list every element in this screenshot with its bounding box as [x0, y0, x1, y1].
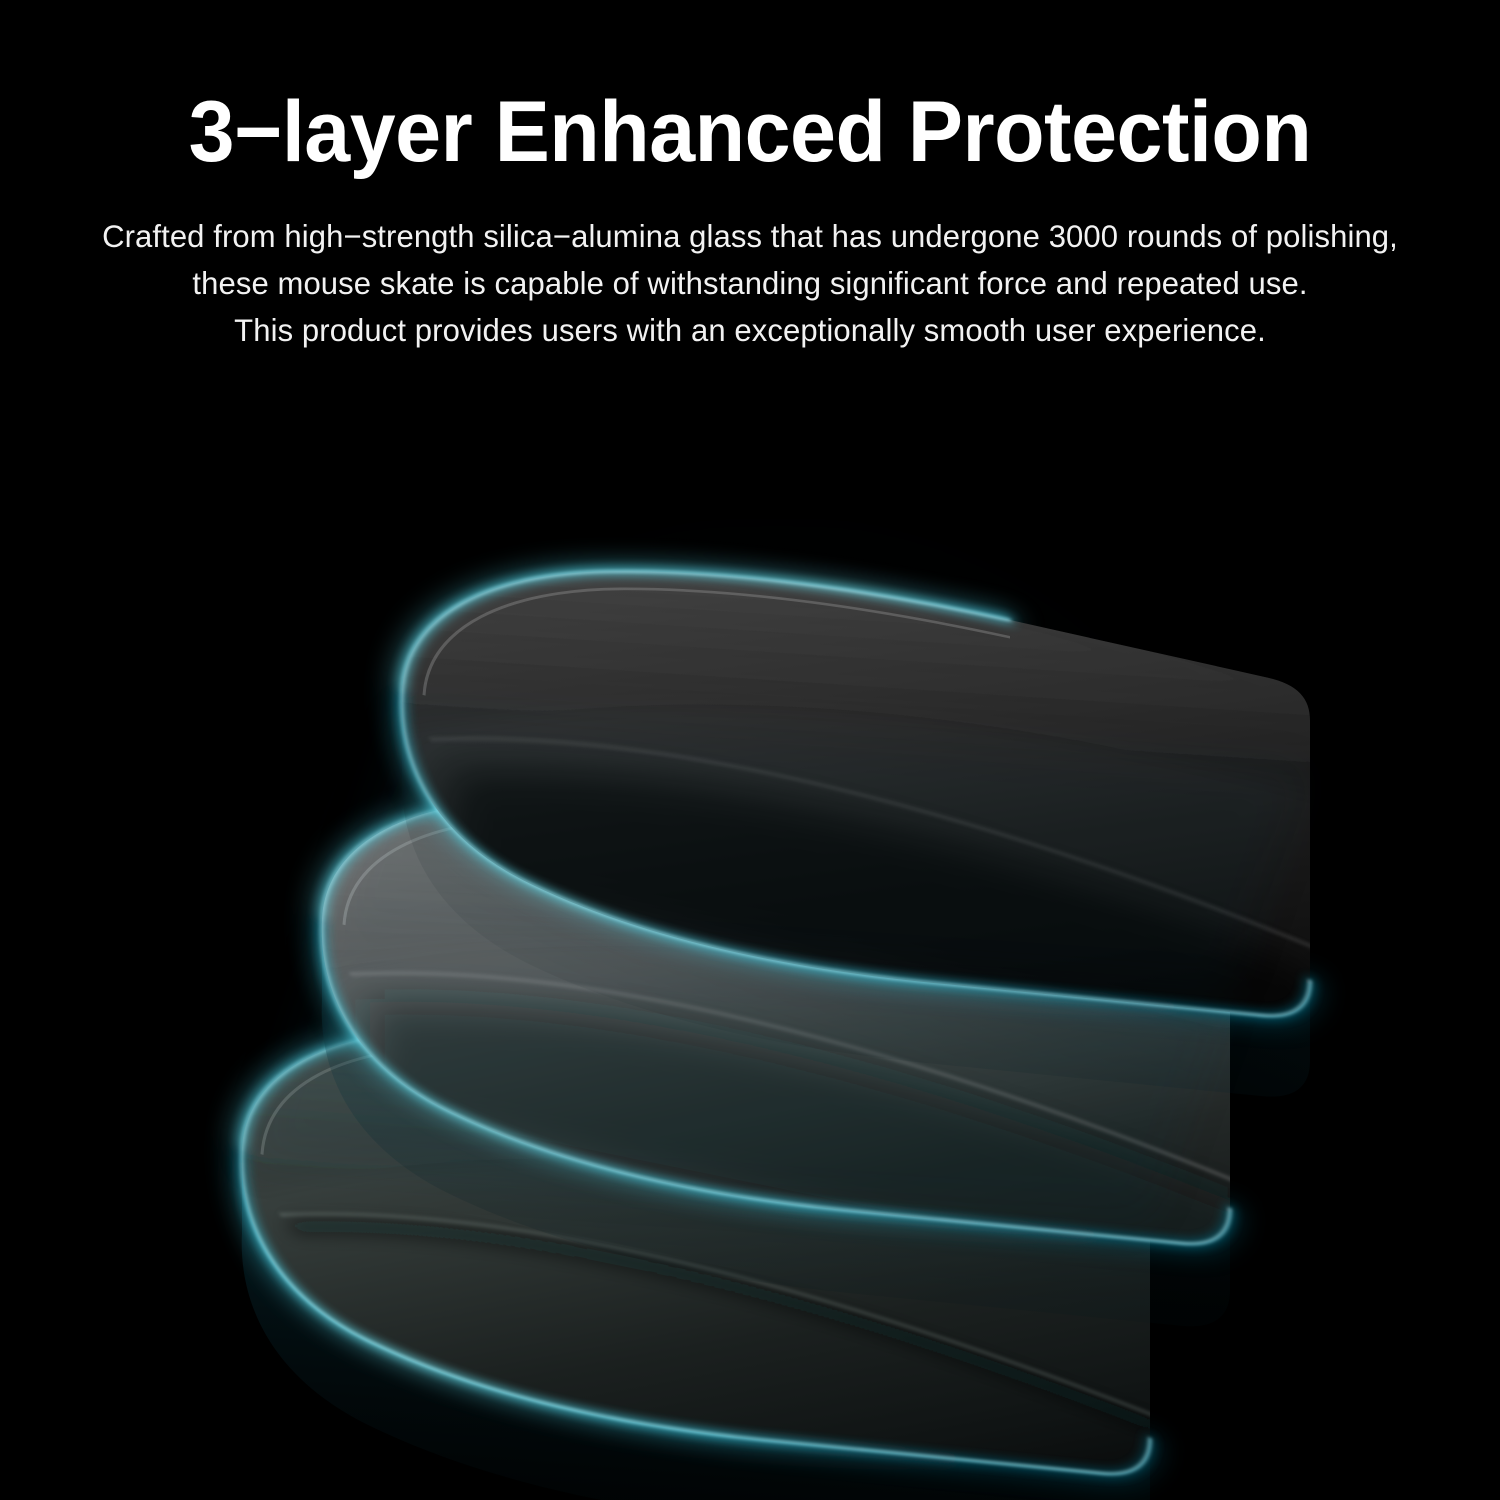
product-feature-page: 3−layer Enhanced Protection Crafted from… — [0, 0, 1500, 1500]
product-image — [0, 395, 1500, 1500]
page-title: 3−layer Enhanced Protection — [30, 0, 1470, 179]
description-line-2: these mouse skate is capable of withstan… — [11, 260, 1489, 307]
header-text-block: 3−layer Enhanced Protection Crafted from… — [0, 0, 1500, 354]
description-paragraph: Crafted from high−strength silica−alumin… — [0, 179, 1500, 354]
description-line-3: This product provides users with an exce… — [11, 307, 1489, 354]
three-layer-glass-illustration — [0, 395, 1500, 1500]
description-line-1: Crafted from high−strength silica−alumin… — [11, 213, 1489, 260]
